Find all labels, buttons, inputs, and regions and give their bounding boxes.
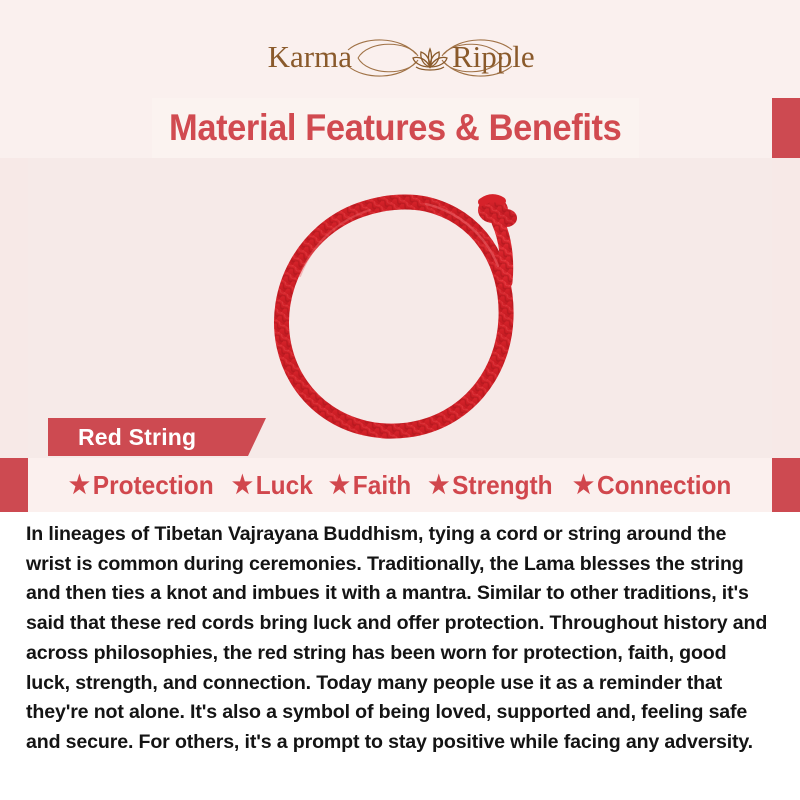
red-string-bracelet-image — [230, 166, 570, 456]
star-icon: ★ — [429, 473, 450, 498]
product-photo-inner — [28, 158, 772, 458]
benefit-label: Protection — [93, 470, 214, 501]
brand-logo: Karma Ripple — [240, 34, 560, 82]
brand-name-left: Karma — [268, 39, 353, 74]
star-icon: ★ — [232, 473, 253, 498]
benefit-item-protection: ★ Protection — [69, 470, 222, 501]
lotus-icon: Karma Ripple — [240, 34, 560, 82]
benefit-label: Luck — [256, 470, 313, 501]
description-block: In lineages of Tibetan Vajrayana Buddhis… — [0, 512, 800, 800]
star-icon: ★ — [573, 473, 594, 498]
benefit-label: Faith — [353, 470, 411, 501]
page-title: Material Features & Benefits — [169, 107, 621, 149]
benefit-item-connection: ★ Connection — [573, 470, 731, 501]
star-icon: ★ — [69, 473, 90, 498]
benefit-item-luck: ★ Luck — [232, 470, 321, 501]
star-icon: ★ — [329, 473, 350, 498]
title-band: Material Features & Benefits — [152, 98, 639, 158]
red-string-ribbon: Red String — [48, 418, 266, 456]
benefit-label: Connection — [597, 470, 731, 501]
ribbon-label: Red String — [78, 424, 196, 451]
product-photo-area — [0, 158, 800, 458]
brand-name-right: Ripple — [452, 39, 535, 74]
benefit-label: Strength — [453, 470, 553, 501]
benefits-row: ★ Protection ★ Luck ★ Faith ★ Strength ★… — [28, 458, 772, 512]
description-text: In lineages of Tibetan Vajrayana Buddhis… — [26, 520, 774, 758]
benefit-item-strength: ★ Strength — [429, 470, 562, 501]
header: Karma Ripple — [0, 0, 800, 98]
benefit-item-faith: ★ Faith — [329, 470, 420, 501]
